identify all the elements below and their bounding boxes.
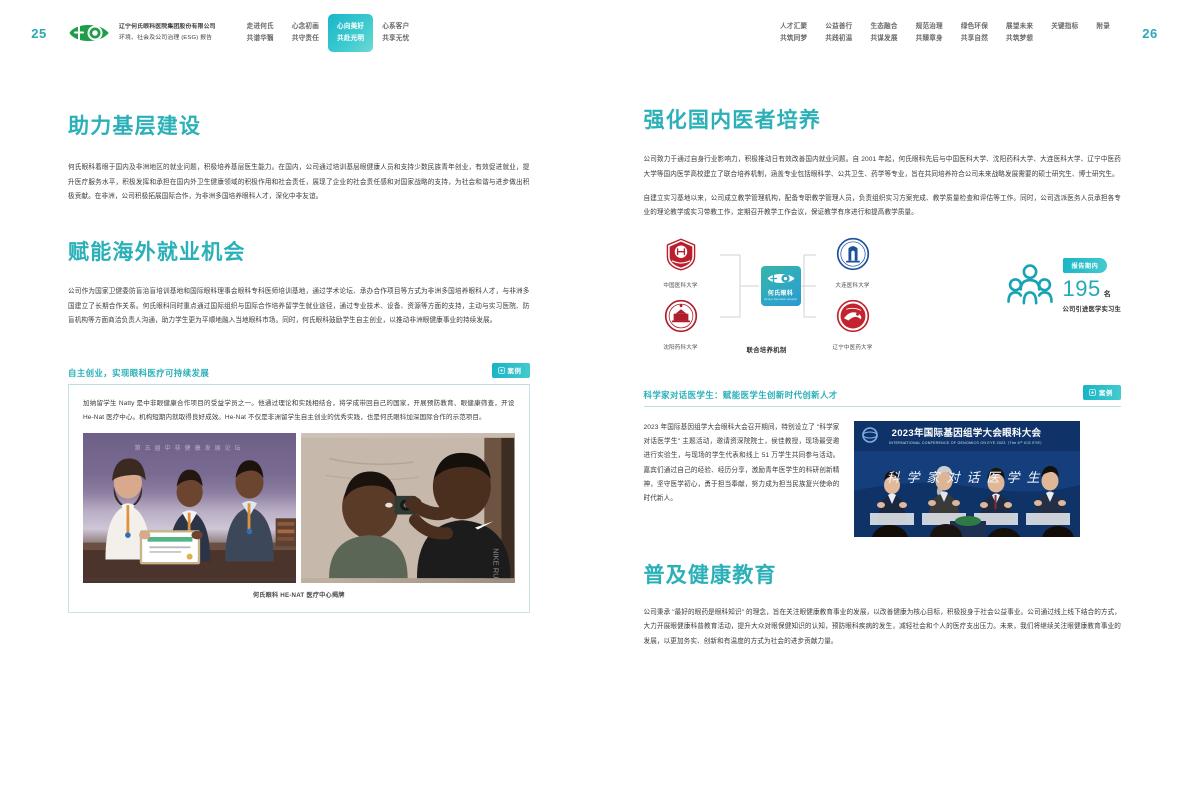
case-study-scientists: 科学家对话医学生：赋能医学生创新时代创新人才 案例 2023 年国际基因组学大会…: [644, 385, 1122, 537]
seal-syphu-icon: [664, 299, 698, 333]
tab-appendix-line1: 附录: [1096, 21, 1110, 33]
case-badge-scientists: 案例: [1083, 385, 1121, 400]
right-page-content: 强化国内医者培养 公司致力于通过自身行业影响力，积极推动日有效改善国内就业问题。…: [596, 66, 1191, 809]
tab-1-line2: 共守责任: [292, 33, 319, 45]
tab-future-line1: 展望未来: [1006, 21, 1033, 33]
report-spread: 25 辽宁何氏眼科医院集团股份有限公司 环境、社会及公司治理 (ESG) 报告: [0, 0, 1191, 809]
section-body-domestic-1: 公司致力于通过自身行业影响力，积极推动日有效改善国内就业问题。自 2001 年起…: [644, 153, 1122, 182]
tab-appendix[interactable]: 附录: [1087, 14, 1119, 51]
tab-talent[interactable]: 人才汇聚 共筑同梦: [771, 14, 816, 51]
people-group-icon: [1007, 263, 1053, 305]
uni-node-lnutcm: 辽宁中医药大学: [816, 299, 890, 351]
tab-3[interactable]: 心系客户 共享无忧: [373, 14, 418, 51]
stat-panel: 报告期内 195 名 公司引进医学实习生: [1007, 255, 1121, 313]
brand-logo: 辽宁何氏眼科医院集团股份有限公司 环境、社会及公司治理 (ESG) 报告: [68, 20, 216, 46]
left-nav-tabs: 走进何氏 共谱华翳 心念初画 共守责任 心向美好 共赴光明 心系客户 共享无忧: [238, 14, 419, 51]
uni-node-syphu: 沈阳药科大学: [644, 299, 718, 351]
tab-future-line2: 共筑梦想: [1006, 33, 1033, 45]
seal-lnutcm-icon: [836, 299, 870, 333]
uni-name-syphu: 沈阳药科大学: [644, 343, 718, 351]
stat-text-block: 报告期内 195 名 公司引进医学实习生: [1063, 255, 1121, 313]
section-body-grassroots: 何氏眼科着眼于国内及非洲地区的就业问题，积极培养基层医生能力。在国内，公司通过培…: [68, 161, 530, 204]
tab-0[interactable]: 走进何氏 共谱华翳: [238, 14, 283, 51]
page-right-header: 人才汇聚 共筑同梦 公益善行 共践初温 生态融合 共谋发展 规范治理 共臻章身 …: [596, 0, 1191, 66]
tab-governance[interactable]: 规范治理 共臻章身: [907, 14, 952, 51]
tab-ecology-line1: 生态融合: [870, 21, 897, 33]
tab-2-line2: 共赴光明: [337, 33, 364, 45]
section-body-domestic-2: 自建立实习基地以来，公司成立教学管理机构，配备专职教学管理人员，负责组织实习方案…: [644, 192, 1122, 221]
page-right: 人才汇聚 共筑同梦 公益善行 共践初温 生态融合 共谋发展 规范治理 共臻章身 …: [596, 0, 1191, 809]
case-study-natty: 自主创业，实现眼科医疗可持续发展 案例 加纳留学生 Natty 是中非眼健康合作…: [68, 363, 530, 614]
section-body-health-education: 公司秉承 "最好的眼药是眼科知识" 的理念，旨在关注眼健康教育事业的发展，以改善…: [644, 606, 1122, 649]
case-study-title: 自主创业，实现眼科医疗可持续发展: [68, 367, 209, 384]
tab-future[interactable]: 展望未来 共筑梦想: [997, 14, 1042, 51]
center-logo-subname: He Eye Specialist Hospital: [764, 298, 797, 301]
stat-badge: 报告期内: [1063, 258, 1108, 273]
tab-charity-line2: 共践初温: [825, 33, 852, 45]
tab-3-line2: 共享无忧: [382, 33, 409, 45]
tab-charity-line1: 公益善行: [825, 21, 852, 33]
he-eye-mark-icon: [766, 271, 796, 286]
brand-logo-title: 辽宁何氏眼科医院集团股份有限公司: [119, 22, 216, 33]
page-number-right: 26: [1133, 26, 1167, 41]
tab-green-line1: 绿色环保: [961, 21, 988, 33]
page-number-left: 25: [22, 26, 56, 41]
center-logo-he-eye: 何氏眼科 He Eye Specialist Hospital: [761, 266, 801, 306]
tab-charity[interactable]: 公益善行 共践初温: [816, 14, 861, 51]
seal-cmu-icon: [664, 237, 698, 271]
page-left: 25 辽宁何氏眼科医院集团股份有限公司 环境、社会及公司治理 (ESG) 报告: [0, 0, 596, 809]
page-left-header: 25 辽宁何氏眼科医院集团股份有限公司 环境、社会及公司治理 (ESG) 报告: [0, 0, 596, 66]
tab-green-line2: 共享自然: [961, 33, 988, 45]
case-scientists-body-row: 2023 年国际基因组学大会眼科大会召开期间，特别设立了 "科学家对话医学生" …: [644, 421, 1122, 537]
stat-value-row: 195 名: [1063, 277, 1121, 301]
tab-1[interactable]: 心念初画 共守责任: [283, 14, 328, 51]
uni-name-cmu: 中国医科大学: [644, 281, 718, 289]
tab-ecology[interactable]: 生态融合 共谋发展: [861, 14, 906, 51]
tab-3-line1: 心系客户: [382, 21, 409, 33]
uni-node-cmu: 中国医科大学: [644, 237, 718, 289]
case-badge-scientists-label: 案例: [1099, 388, 1113, 397]
case-study-scientists-body: 2023 年国际基因组学大会眼科大会召开期间，特别设立了 "科学家对话医学生" …: [644, 421, 840, 507]
case-badge-label: 案例: [508, 366, 522, 375]
section-heading-grassroots: 助力基层建设: [68, 114, 530, 139]
brand-logo-subtitle: 环境、社会及公司治理 (ESG) 报告: [119, 33, 216, 44]
case-study-scientists-title: 科学家对话医学生：赋能医学生创新时代创新人才: [644, 389, 838, 406]
case-photo-row: 第五届中非健康发展论坛: [83, 433, 515, 583]
conference-banner-title: 2023年国际基因组学大会眼科大会: [854, 425, 1080, 439]
tab-governance-line2: 共臻章身: [916, 33, 943, 45]
tab-talent-line2: 共筑同梦: [780, 33, 807, 45]
tab-talent-line1: 人才汇聚: [780, 21, 807, 33]
tab-1-line1: 心念初画: [292, 21, 319, 33]
brand-logo-text: 辽宁何氏眼科医院集团股份有限公司 环境、社会及公司治理 (ESG) 报告: [119, 22, 216, 44]
tab-2-line1: 心向美好: [337, 21, 364, 33]
document-icon: [1089, 389, 1096, 396]
partnership-diagram: 中国医科大学 沈阳药科大学: [644, 237, 1122, 369]
eye-screening-figures: NIKE RUNNING: [301, 433, 514, 583]
case-badge: 案例: [492, 363, 530, 378]
section-heading-health-education: 普及健康教育: [644, 563, 1122, 588]
center-logo-name: 何氏眼科: [768, 288, 794, 297]
uni-name-lnutcm: 辽宁中医药大学: [816, 343, 890, 351]
case-study-body: 加纳留学生 Natty 是中非眼健康合作项目的受益学员之一。他通过理论和实践相结…: [83, 397, 515, 425]
tab-2-active[interactable]: 心向美好 共赴光明: [328, 14, 373, 51]
stat-description: 公司引进医学实习生: [1063, 304, 1121, 313]
he-eye-logo-icon: [68, 20, 110, 46]
conference-calligraphy: 科学家对话医学生: [854, 467, 1080, 486]
stat-value: 195: [1063, 277, 1101, 301]
uni-name-dmu: 大连医科大学: [816, 281, 890, 289]
document-icon: [498, 367, 505, 374]
right-nav-tabs: 人才汇聚 共筑同梦 公益善行 共践初温 生态融合 共谋发展 规范治理 共臻章身 …: [771, 14, 1119, 51]
case-study-scientists-header: 科学家对话医学生：赋能医学生创新时代创新人才 案例: [644, 385, 1122, 406]
award-ceremony-figures: [83, 433, 296, 583]
conference-banner-subtitle: INTERNATIONAL CONFERENCE OF GENOMICS ON …: [854, 441, 1080, 446]
section-heading-domestic-training: 强化国内医者培养: [644, 108, 1122, 133]
case-study-header: 自主创业，实现眼科医疗可持续发展 案例: [68, 363, 530, 384]
uni-node-dmu: 大连医科大学: [816, 237, 890, 289]
seal-dmu-icon: [836, 237, 870, 271]
tab-ecology-line2: 共谋发展: [870, 33, 897, 45]
case-study-box: 加纳留学生 Natty 是中非眼健康合作项目的受益学员之一。他通过理论和实践相结…: [68, 385, 530, 614]
conference-banner: 2023年国际基因组学大会眼科大会 INTERNATIONAL CONFEREN…: [854, 425, 1080, 446]
section-heading-overseas: 赋能海外就业机会: [68, 240, 530, 265]
photo-conference: 2023年国际基因组学大会眼科大会 INTERNATIONAL CONFEREN…: [854, 421, 1080, 537]
tab-key-indicators[interactable]: 关键指标: [1042, 14, 1087, 51]
section-body-overseas: 公司作为国家卫健委防盲治盲培训基地和国际眼科理事会眼科专科医师培训基地，通过学术…: [68, 285, 530, 328]
tab-green[interactable]: 绿色环保 共享自然: [952, 14, 997, 51]
left-page-content: 助力基层建设 何氏眼科着眼于国内及非洲地区的就业问题，积极培养基层医生能力。在国…: [0, 66, 596, 809]
case-divider-scientists: [644, 406, 1122, 407]
tab-key-indicators-line1: 关键指标: [1051, 21, 1078, 33]
photo-eye-screening: NIKE RUNNING: [301, 433, 514, 583]
tab-0-line1: 走进何氏: [247, 21, 274, 33]
stat-unit: 名: [1104, 289, 1111, 299]
svg-text:NIKE RUNNING: NIKE RUNNING: [492, 549, 501, 584]
diagram-center-label: 联合培养机制: [747, 345, 787, 354]
photo-award-ceremony: 第五届中非健康发展论坛: [83, 433, 296, 583]
tab-0-line2: 共谱华翳: [247, 33, 274, 45]
case-photo-caption: 何氏眼科 HE-NAT 医疗中心揭牌: [83, 590, 515, 599]
tab-governance-line1: 规范治理: [916, 21, 943, 33]
